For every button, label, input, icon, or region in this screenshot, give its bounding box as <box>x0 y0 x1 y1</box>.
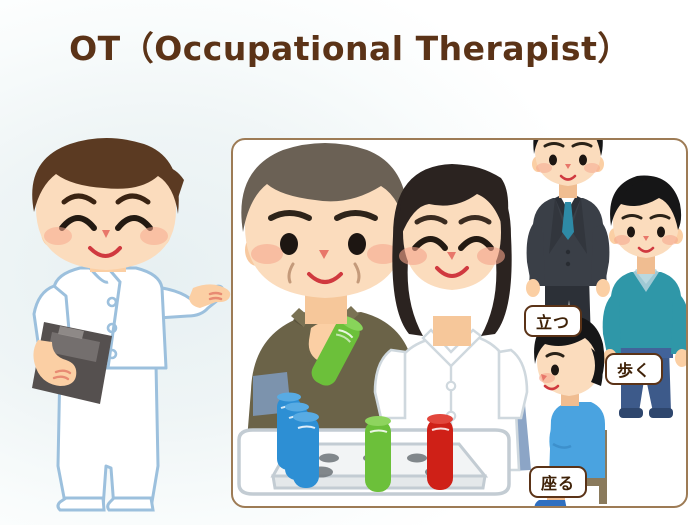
label-walk: 歩く <box>605 353 663 385</box>
illustration-canvas: OT（Occupational Therapist） <box>0 0 700 525</box>
red-cylinder <box>427 414 453 490</box>
green-cylinder <box>365 416 391 492</box>
label-sit: 座る <box>529 466 587 498</box>
therapist-figure <box>8 136 238 516</box>
female-staff <box>375 164 531 472</box>
page-title: OT（Occupational Therapist） <box>0 22 700 70</box>
scene-panel <box>231 138 688 508</box>
label-stand: 立つ <box>524 305 582 337</box>
